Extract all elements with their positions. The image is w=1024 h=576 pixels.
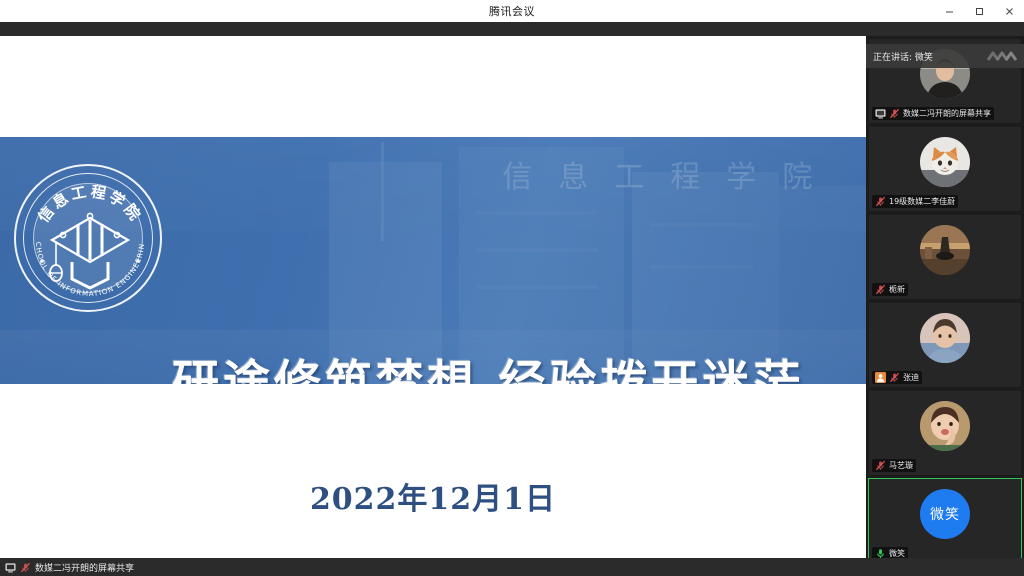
participant-tile[interactable]: 栀新 xyxy=(868,214,1022,300)
graduation-cap-circuit-icon: 信息工程学院 SCHOOL OF INFORMATION ENGINEERING xyxy=(16,166,164,314)
participant-tile-active-speaker[interactable]: 微笑 微笑 xyxy=(868,478,1022,564)
close-button[interactable] xyxy=(994,0,1024,22)
participant-tile[interactable]: 19级数媒二李佳蔚 xyxy=(868,126,1022,212)
backdrop-ghost-text: 信息工程学院 xyxy=(502,152,838,196)
avatar-initials: 微笑 xyxy=(920,489,970,539)
avatar-photo-person xyxy=(920,401,970,451)
mic-muted-icon xyxy=(20,562,31,573)
tencent-meeting-window: 腾讯会议 xyxy=(0,0,1024,576)
audio-wave-icon xyxy=(987,50,1017,62)
participant-name-bar: 数媒二冯开朗的屏幕共享 xyxy=(872,107,994,120)
participant-name-bar: 19级数媒二李佳蔚 xyxy=(872,195,958,208)
participant-name: 19级数媒二李佳蔚 xyxy=(889,196,955,207)
avatar xyxy=(920,225,970,275)
bottom-share-bar: 数媒二冯开朗的屏幕共享 xyxy=(0,558,1024,576)
maximize-button[interactable] xyxy=(964,0,994,22)
mic-muted-icon xyxy=(875,284,886,295)
slide-date: 2022年12月1日 xyxy=(0,474,866,518)
active-speaker-label: 正在讲话: 微笑 xyxy=(873,50,933,63)
slide-headline: 研途修筑梦想 经验拨开迷茫 xyxy=(172,344,862,384)
participant-tile[interactable]: 马艺璇 xyxy=(868,390,1022,476)
participant-tile[interactable]: 张迪 xyxy=(868,302,1022,388)
bottom-share-label: 数媒二冯开朗的屏幕共享 xyxy=(35,561,134,574)
screen-share-icon xyxy=(5,562,16,573)
svg-text:信息工程学院: 信息工程学院 xyxy=(34,182,145,226)
participant-name: 马艺璇 xyxy=(889,460,913,471)
avatar-initials-text: 微笑 xyxy=(930,504,960,524)
avatar-photo-cat xyxy=(920,137,970,187)
avatar xyxy=(920,401,970,451)
mic-muted-icon xyxy=(889,108,900,119)
host-badge-icon xyxy=(875,372,886,383)
school-seal-logo: 信息工程学院 SCHOOL OF INFORMATION ENGINEERING xyxy=(14,164,162,312)
active-speaker-banner: 正在讲话: 微笑 xyxy=(866,44,1024,68)
slide-banner: 信息工程学院 信息工程学院 SCHOOL OF I xyxy=(0,137,866,384)
participant-name: 数媒二冯开朗的屏幕共享 xyxy=(903,108,991,119)
mic-muted-icon xyxy=(889,372,900,383)
participant-name-bar: 马艺璇 xyxy=(872,459,916,472)
window-title: 腾讯会议 xyxy=(489,3,535,19)
title-bar: 腾讯会议 xyxy=(0,0,1024,22)
participant-name-bar: 张迪 xyxy=(872,371,922,384)
minimize-button[interactable] xyxy=(934,0,964,22)
toolbar-strip xyxy=(0,22,1024,36)
mic-muted-icon xyxy=(875,460,886,471)
avatar-photo-person xyxy=(920,313,970,363)
avatar xyxy=(920,313,970,363)
participant-name: 张迪 xyxy=(903,372,919,383)
participant-name: 栀新 xyxy=(889,284,905,295)
shared-screen-stage[interactable]: 信息工程学院 信息工程学院 SCHOOL OF I xyxy=(0,36,866,558)
mic-muted-icon xyxy=(875,196,886,207)
avatar xyxy=(920,137,970,187)
window-controls xyxy=(934,0,1024,22)
screen-share-icon xyxy=(875,108,886,119)
participant-name-bar: 栀新 xyxy=(872,283,908,296)
avatar-photo-room xyxy=(920,225,970,275)
presentation-slide: 信息工程学院 信息工程学院 SCHOOL OF I xyxy=(0,36,866,558)
participants-rail[interactable]: 数媒二冯开朗的屏幕共享 xyxy=(866,36,1024,558)
